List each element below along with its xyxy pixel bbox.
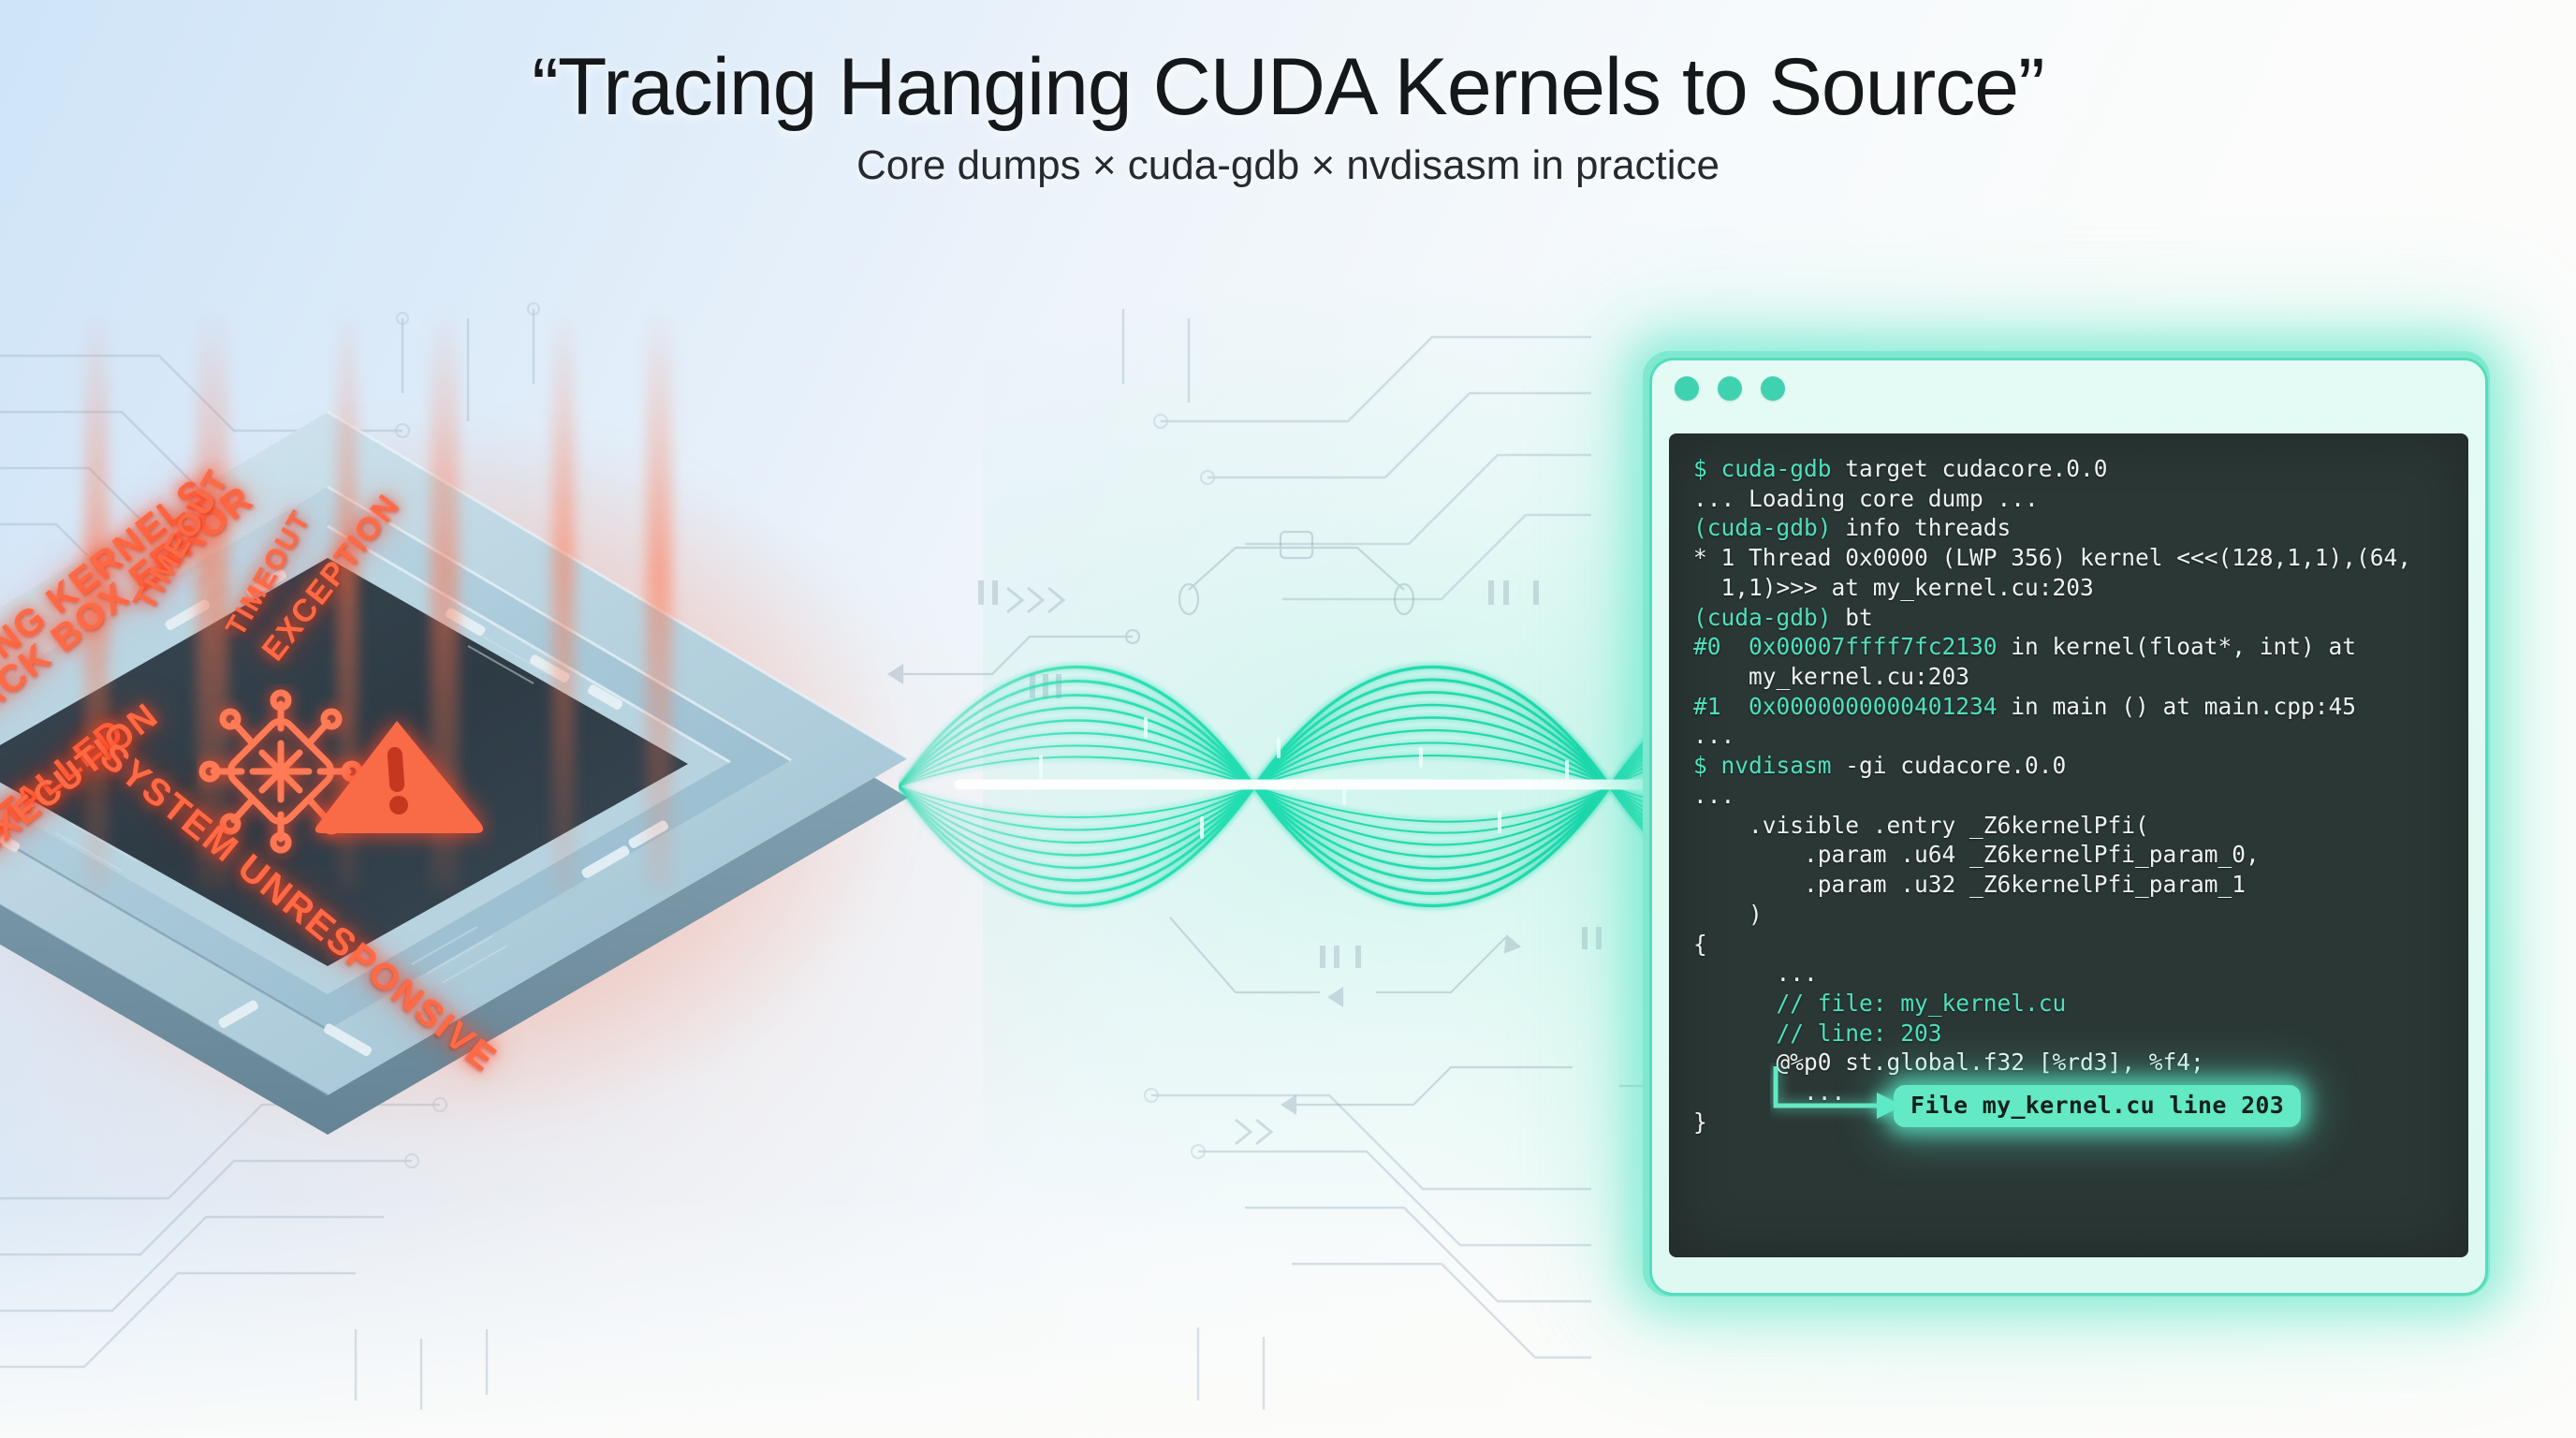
terminal-line: ... Loading core dump ... [1693, 484, 2444, 514]
terminal-line: (cuda-gdb) bt [1693, 603, 2444, 633]
terminal-line: .visible .entry _Z6kernelPfi( [1693, 811, 2444, 841]
terminal-line: 1,1)>>> at my_kernel.cu:203 [1693, 573, 2444, 603]
terminal-console[interactable]: $ cuda-gdb target cudacore.0.0... Loadin… [1669, 433, 2468, 1257]
terminal-line: ... [1693, 721, 2444, 751]
window-minimize-dot[interactable] [1718, 376, 1742, 401]
terminal-output: $ cuda-gdb target cudacore.0.0... Loadin… [1693, 454, 2444, 1137]
terminal-line: { [1693, 930, 2444, 960]
terminal-line: #1 0x0000000000401234 in main () at main… [1693, 692, 2444, 722]
window-maximize-dot[interactable] [1761, 376, 1785, 401]
terminal-window[interactable]: $ cuda-gdb target cudacore.0.0... Loadin… [1649, 358, 2488, 1296]
terminal-line: my_kernel.cu:203 [1693, 662, 2444, 692]
terminal-line: $ nvdisasm -gi cudacore.0.0 [1693, 751, 2444, 781]
terminal-line: // line: 203 [1693, 1019, 2444, 1049]
terminal-line: .param .u64 _Z6kernelPfi_param_0, [1693, 840, 2444, 870]
terminal-line: ... [1693, 959, 2444, 989]
terminal-line: .param .u32 _Z6kernelPfi_param_1 [1693, 870, 2444, 900]
page-title: “Tracing Hanging CUDA Kernels to Source” [0, 0, 2576, 129]
window-close-dot[interactable] [1675, 376, 1699, 401]
terminal-line: // file: my_kernel.cu [1693, 989, 2444, 1019]
terminal-titlebar [1652, 360, 2485, 417]
terminal-line: ... [1693, 781, 2444, 811]
callout-connector-arrow [1770, 1063, 1910, 1124]
poster-header: “Tracing Hanging CUDA Kernels to Source”… [0, 0, 2576, 189]
terminal-line: $ cuda-gdb target cudacore.0.0 [1693, 454, 2444, 484]
page-subtitle: Core dumps × cuda-gdb × nvdisasm in prac… [0, 142, 2576, 189]
terminal-line: * 1 Thread 0x0000 (LWP 356) kernel <<<(1… [1693, 543, 2444, 573]
poster-canvas: HUNG KERNELSBLACK BOX ERRORSTALLEDEXECUT… [0, 0, 2576, 1438]
terminal-line: (cuda-gdb) info threads [1693, 513, 2444, 543]
terminal-line: #0 0x00007ffff7fc2130 in kernel(float*, … [1693, 632, 2444, 662]
gpu-chip-illustration: HUNG KERNELSBLACK BOX ERRORSTALLEDEXECUT… [0, 309, 992, 1198]
warning-triangle-icon [315, 721, 483, 833]
terminal-line: ) [1693, 900, 2444, 930]
source-location-callout: File my_kernel.cu line 203 [1894, 1085, 2301, 1127]
